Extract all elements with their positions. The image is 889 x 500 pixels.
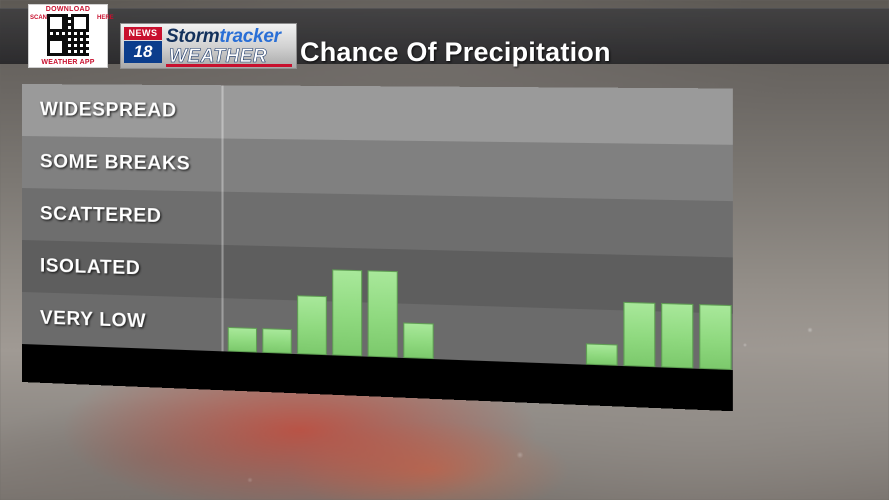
chart-bar bbox=[227, 327, 256, 352]
chart-plot-area: SATNIGHTSUNDAYSUNNIGHTMONDAYMONNIGHTTUED… bbox=[224, 85, 733, 370]
chart-bar bbox=[661, 303, 693, 369]
chart-bar bbox=[585, 343, 617, 366]
band-label: SOME BREAKS bbox=[40, 151, 190, 176]
band-label: VERY LOW bbox=[40, 308, 146, 334]
band-label: SCATTERED bbox=[40, 203, 162, 228]
band-label: ISOLATED bbox=[40, 255, 140, 280]
chart-bar bbox=[367, 271, 397, 358]
chart-bar bbox=[623, 302, 655, 368]
chart-bar bbox=[403, 322, 433, 359]
chart-bar bbox=[332, 270, 362, 357]
chart-bar bbox=[262, 328, 292, 354]
band-label: WIDESPREAD bbox=[40, 99, 177, 122]
chart-bar bbox=[297, 296, 327, 355]
chart-bar bbox=[699, 304, 732, 370]
precipitation-chart: VERY LOWISOLATEDSCATTEREDSOME BREAKSWIDE… bbox=[0, 0, 889, 500]
